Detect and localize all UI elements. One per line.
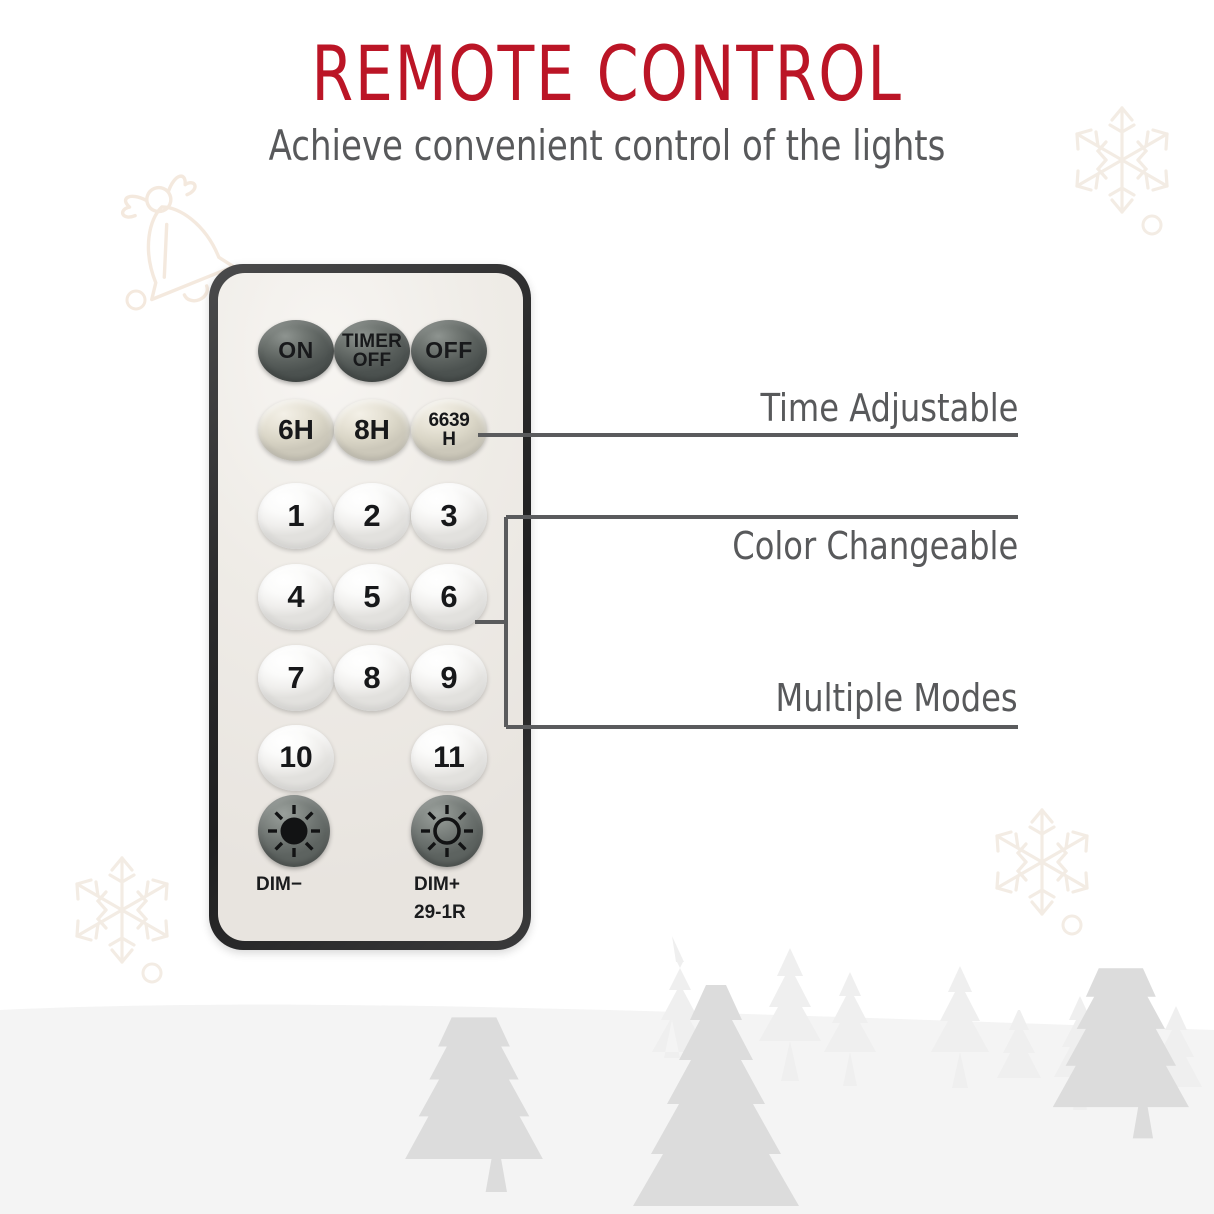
callout-leader-lines (0, 0, 1214, 1214)
remote-key-1[interactable]: 1 (258, 483, 334, 549)
remote-key-6639h[interactable]: 6639H (411, 399, 487, 461)
sun-filled-icon (258, 795, 330, 867)
header: REMOTE CONTROL Achieve convenient contro… (0, 32, 1214, 172)
remote-key-8h[interactable]: 8H (334, 399, 410, 461)
remote-key-10[interactable]: 10 (258, 725, 334, 791)
tree-layer-front (405, 968, 1189, 1206)
remote-key-label: 2 (363, 500, 380, 532)
remote-key-label: 6 (440, 581, 457, 613)
remote-key-11[interactable]: 11 (411, 725, 487, 791)
remote-faceplate: ONTIMEROFFOFF6H8H6639H1234567891011 (218, 273, 523, 941)
callout-label-color-changeable: Color Changeable (732, 524, 1018, 568)
remote-key-label: 7 (287, 662, 304, 694)
remote-key-3[interactable]: 3 (411, 483, 487, 549)
page-subtitle: Achieve convenient control of the lights (61, 120, 1154, 172)
remote-key-9[interactable]: 9 (411, 645, 487, 711)
remote-key-on[interactable]: ON (258, 320, 334, 382)
dim-plus-label: DIM+ (414, 874, 460, 896)
snow-ground (0, 1005, 1214, 1214)
page-title: REMOTE CONTROL (73, 32, 1141, 116)
dot-accent (1063, 916, 1081, 934)
remote-key-label: 3 (440, 500, 457, 532)
dim-plus-button[interactable] (411, 795, 483, 867)
background-scenery (0, 0, 1214, 1214)
remote-key-7[interactable]: 7 (258, 645, 334, 711)
remote-key-label: OFF (425, 339, 473, 362)
dot-accent (143, 964, 161, 982)
remote-key-6h[interactable]: 6H (258, 399, 334, 461)
dim-minus-label: DIM− (256, 874, 302, 896)
remote-control-device: ONTIMEROFFOFF6H8H6639H1234567891011 (209, 264, 531, 950)
remote-key-2[interactable]: 2 (334, 483, 410, 549)
model-code-label: 29-1R (414, 902, 466, 924)
dim-minus-button[interactable] (258, 795, 330, 867)
remote-key-label: 6639H (428, 411, 469, 450)
remote-key-timer-off[interactable]: TIMEROFF (334, 320, 410, 382)
dot-accent (1143, 216, 1161, 234)
remote-key-8[interactable]: 8 (334, 645, 410, 711)
remote-key-label: 11 (433, 743, 465, 774)
remote-key-label: 8H (354, 416, 390, 445)
dot-accent (127, 291, 145, 309)
remote-key-label: 4 (287, 581, 304, 613)
remote-key-6[interactable]: 6 (411, 564, 487, 630)
remote-key-4[interactable]: 4 (258, 564, 334, 630)
remote-key-off[interactable]: OFF (411, 320, 487, 382)
callout-label-multiple-modes: Multiple Modes (776, 676, 1018, 720)
snowflake-icon (997, 810, 1087, 914)
sun-outline-icon (411, 795, 483, 867)
remote-key-label: 1 (287, 500, 304, 532)
snowflake-icon (77, 858, 167, 962)
tree-layer-back (652, 936, 1202, 1110)
remote-key-label: 6H (278, 416, 314, 445)
remote-key-label: ON (278, 339, 314, 362)
remote-key-label: 5 (363, 581, 380, 613)
remote-key-label: 9 (440, 662, 457, 694)
remote-key-label: 8 (363, 662, 380, 694)
remote-key-label: TIMEROFF (342, 332, 402, 371)
infographic-canvas: REMOTE CONTROL Achieve convenient contro… (0, 0, 1214, 1214)
holiday-line-art (0, 0, 1214, 1214)
remote-key-label: 10 (279, 743, 312, 774)
callout-label-time-adjustable: Time Adjustable (760, 386, 1018, 430)
remote-key-5[interactable]: 5 (334, 564, 410, 630)
